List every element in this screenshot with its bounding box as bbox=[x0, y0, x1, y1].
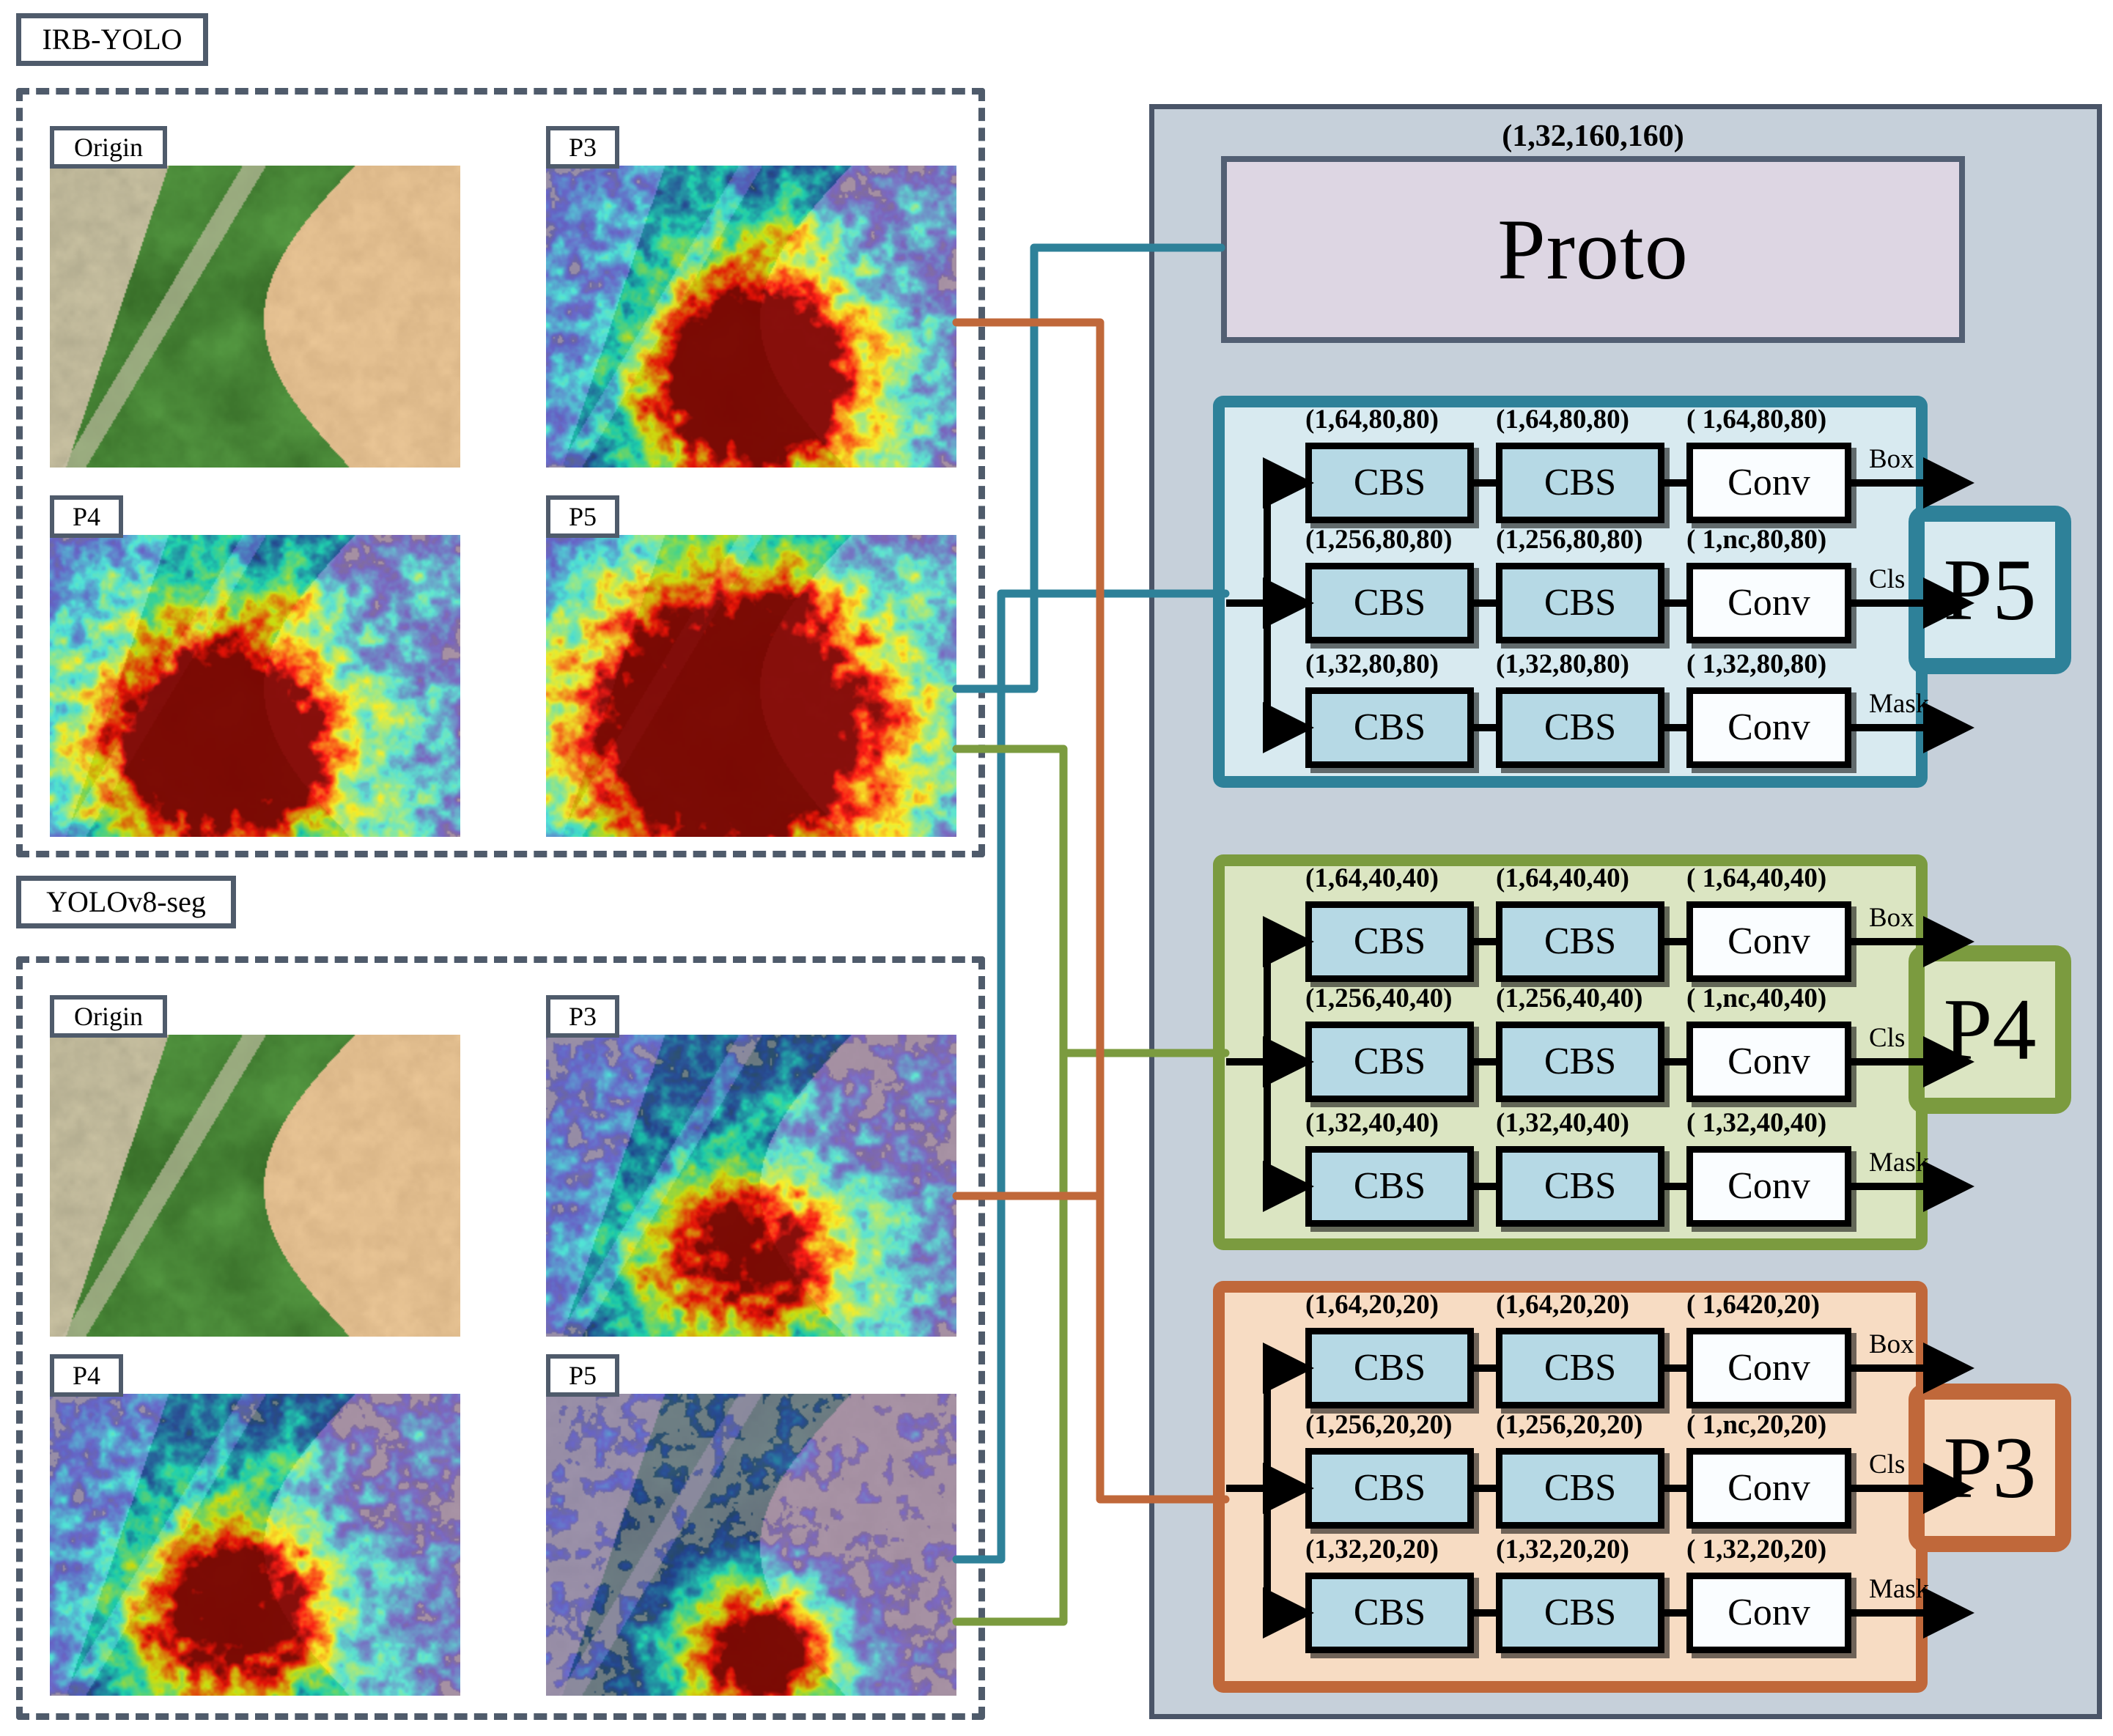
shape-label: ( 1,64,80,80) bbox=[1686, 406, 1826, 433]
block-cbs: CBS bbox=[1305, 1022, 1474, 1102]
shape-label: (1,32,40,40) bbox=[1496, 1109, 1629, 1137]
tile-label-origin-v8: Origin bbox=[50, 995, 167, 1038]
block-cbs: CBS bbox=[1496, 901, 1664, 982]
tile-label-text: P3 bbox=[569, 1003, 597, 1030]
block-conv: Conv bbox=[1686, 1146, 1851, 1227]
feature-map-p4-v8 bbox=[50, 1394, 460, 1696]
feature-map-p3-irb bbox=[546, 166, 956, 468]
block-conv: Conv bbox=[1686, 1573, 1851, 1653]
feature-map-origin-irb bbox=[50, 166, 460, 468]
head-group-inner: (1,64,80,80)CBS(1,64,80,80)CBS( 1,64,80,… bbox=[1225, 407, 1916, 776]
group-title-yolov8-seg: YOLOv8-seg bbox=[16, 876, 236, 928]
tile-label-p3-v8: P3 bbox=[546, 995, 619, 1038]
output-label-box: Box bbox=[1869, 904, 1914, 931]
level-badge-p4[interactable]: P4 bbox=[1909, 945, 2071, 1114]
group-title-irb-yolo: IRB-YOLO bbox=[16, 13, 208, 66]
shape-label: ( 1,32,80,80) bbox=[1686, 651, 1826, 678]
proto-label: Proto bbox=[1497, 207, 1689, 293]
block-cbs: CBS bbox=[1496, 1328, 1664, 1408]
shape-label: (1,64,20,20) bbox=[1305, 1291, 1439, 1318]
tile-label-p5-irb: P5 bbox=[546, 495, 619, 538]
group-title-label: IRB-YOLO bbox=[42, 25, 182, 54]
output-label-cls: Cls bbox=[1869, 566, 1905, 593]
shape-label: (1,64,80,80) bbox=[1305, 406, 1439, 433]
tile-label-text: P3 bbox=[569, 134, 597, 160]
head-group-p4: (1,64,40,40)CBS(1,64,40,40)CBS( 1,64,40,… bbox=[1213, 854, 1928, 1250]
shape-label: (1,256,40,40) bbox=[1496, 985, 1642, 1012]
block-conv: Conv bbox=[1686, 1022, 1851, 1102]
head-group-inner: (1,64,40,40)CBS(1,64,40,40)CBS( 1,64,40,… bbox=[1225, 866, 1916, 1238]
block-conv: Conv bbox=[1686, 1328, 1851, 1408]
block-cbs: CBS bbox=[1496, 443, 1664, 523]
shape-label: (1,64,40,40) bbox=[1496, 865, 1629, 892]
shape-label: (1,32,20,20) bbox=[1305, 1536, 1439, 1563]
feature-map-p5-v8 bbox=[546, 1394, 956, 1696]
tile-label-p4-v8: P4 bbox=[50, 1354, 123, 1397]
block-conv: Conv bbox=[1686, 443, 1851, 523]
block-cbs: CBS bbox=[1305, 1573, 1474, 1653]
output-label-mask: Mask bbox=[1869, 1149, 1929, 1176]
head-group-p5: (1,64,80,80)CBS(1,64,80,80)CBS( 1,64,80,… bbox=[1213, 396, 1928, 788]
block-cbs: CBS bbox=[1305, 687, 1474, 768]
tile-label-text: Origin bbox=[74, 134, 143, 160]
shape-label: (1,256,80,80) bbox=[1496, 526, 1642, 553]
shape-label: ( 1,nc,20,20) bbox=[1686, 1411, 1826, 1438]
tile-label-text: P5 bbox=[569, 503, 597, 530]
output-label-box: Box bbox=[1869, 446, 1914, 473]
output-label-cls: Cls bbox=[1869, 1451, 1905, 1478]
shape-label: (1,32,20,20) bbox=[1496, 1536, 1629, 1563]
shape-label: (1,32,40,40) bbox=[1305, 1109, 1439, 1137]
block-conv: Conv bbox=[1686, 563, 1851, 643]
shape-label: ( 1,32,40,40) bbox=[1686, 1109, 1826, 1137]
tile-label-text: P4 bbox=[73, 1362, 100, 1389]
block-conv: Conv bbox=[1686, 687, 1851, 768]
shape-label: (1,256,20,20) bbox=[1496, 1411, 1642, 1438]
tile-label-p5-v8: P5 bbox=[546, 1354, 619, 1397]
block-cbs: CBS bbox=[1305, 1448, 1474, 1529]
block-cbs: CBS bbox=[1496, 1022, 1664, 1102]
shape-label: (1,64,20,20) bbox=[1496, 1291, 1629, 1318]
group-title-label: YOLOv8-seg bbox=[46, 887, 206, 917]
proto-block: Proto bbox=[1221, 156, 1965, 343]
block-cbs: CBS bbox=[1305, 563, 1474, 643]
shape-label: ( 1,6420,20) bbox=[1686, 1291, 1820, 1318]
block-conv: Conv bbox=[1686, 901, 1851, 982]
head-group-p3: (1,64,20,20)CBS(1,64,20,20)CBS( 1,6420,2… bbox=[1213, 1281, 1928, 1693]
block-cbs: CBS bbox=[1305, 1146, 1474, 1227]
feature-map-origin-v8 bbox=[50, 1035, 460, 1337]
block-cbs: CBS bbox=[1496, 1448, 1664, 1529]
output-label-mask: Mask bbox=[1869, 690, 1929, 717]
tile-label-origin-irb: Origin bbox=[50, 126, 167, 169]
block-cbs: CBS bbox=[1496, 1573, 1664, 1653]
shape-label: (1,256,20,20) bbox=[1305, 1411, 1452, 1438]
level-badge-p5[interactable]: P5 bbox=[1909, 506, 2071, 674]
shape-label: ( 1,32,20,20) bbox=[1686, 1536, 1826, 1563]
shape-label: (1,256,40,40) bbox=[1305, 985, 1452, 1012]
block-cbs: CBS bbox=[1305, 443, 1474, 523]
shape-label: (1,32,80,80) bbox=[1305, 651, 1439, 678]
tile-label-text: P4 bbox=[73, 503, 100, 530]
shape-label: (1,32,80,80) bbox=[1496, 651, 1629, 678]
tile-label-p3-irb: P3 bbox=[546, 126, 619, 169]
shape-label: ( 1,nc,40,40) bbox=[1686, 985, 1826, 1012]
block-cbs: CBS bbox=[1305, 901, 1474, 982]
tile-label-text: Origin bbox=[74, 1003, 143, 1030]
block-cbs: CBS bbox=[1496, 563, 1664, 643]
output-label-box: Box bbox=[1869, 1331, 1914, 1358]
shape-label: (1,64,80,80) bbox=[1496, 406, 1629, 433]
block-cbs: CBS bbox=[1496, 687, 1664, 768]
head-group-inner: (1,64,20,20)CBS(1,64,20,20)CBS( 1,6420,2… bbox=[1225, 1293, 1916, 1681]
block-cbs: CBS bbox=[1305, 1328, 1474, 1408]
level-badge-p3[interactable]: P3 bbox=[1909, 1384, 2071, 1552]
block-cbs: CBS bbox=[1496, 1146, 1664, 1227]
feature-map-p5-irb bbox=[546, 535, 956, 837]
feature-map-p3-v8 bbox=[546, 1035, 956, 1337]
shape-label: (1,64,40,40) bbox=[1305, 865, 1439, 892]
feature-map-p4-irb bbox=[50, 535, 460, 837]
tile-label-p4-irb: P4 bbox=[50, 495, 123, 538]
proto-shape-label: (1,32,160,160) bbox=[1221, 119, 1965, 154]
output-label-mask: Mask bbox=[1869, 1576, 1929, 1603]
shape-label: (1,256,80,80) bbox=[1305, 526, 1452, 553]
shape-label: ( 1,nc,80,80) bbox=[1686, 526, 1826, 553]
tile-label-text: P5 bbox=[569, 1362, 597, 1389]
output-label-cls: Cls bbox=[1869, 1024, 1905, 1052]
block-conv: Conv bbox=[1686, 1448, 1851, 1529]
shape-label: ( 1,64,40,40) bbox=[1686, 865, 1826, 892]
